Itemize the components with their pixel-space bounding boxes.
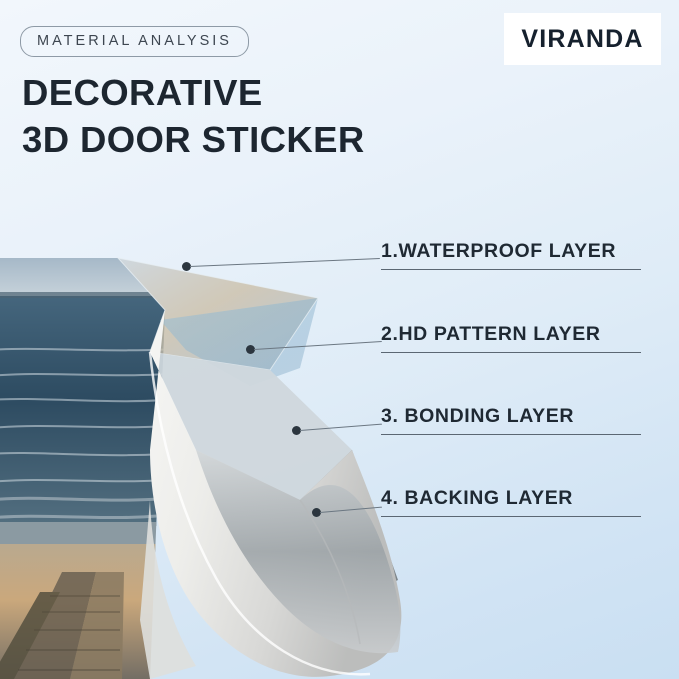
callout-label-1: 1.WATERPROOF LAYER [381, 240, 616, 262]
sticker-artwork [0, 200, 420, 679]
page-title: DECORATIVE 3D DOOR STICKER [22, 70, 365, 163]
callout-label-3: 3. BONDING LAYER [381, 405, 574, 427]
callout-hd-pattern-layer: 2.HD PATTERN LAYER [381, 323, 641, 353]
eyebrow-badge: MATERIAL ANALYSIS [20, 26, 249, 57]
callout-rule-2 [381, 352, 641, 353]
callout-label-4: 4. BACKING LAYER [381, 487, 573, 509]
callout-rule-3 [381, 434, 641, 435]
callout-waterproof-layer: 1.WATERPROOF LAYER [381, 240, 641, 270]
callout-backing-layer: 4. BACKING LAYER [381, 487, 641, 517]
brand-name: VIRANDA [521, 25, 643, 54]
callout-label-2: 2.HD PATTERN LAYER [381, 323, 601, 345]
poster-canvas: MATERIAL ANALYSIS VIRANDA DECORATIVE 3D … [0, 0, 679, 679]
callout-bonding-layer: 3. BONDING LAYER [381, 405, 641, 435]
brand-logo-box: VIRANDA [504, 13, 661, 65]
callout-rule-1 [381, 269, 641, 270]
callout-rule-4 [381, 516, 641, 517]
